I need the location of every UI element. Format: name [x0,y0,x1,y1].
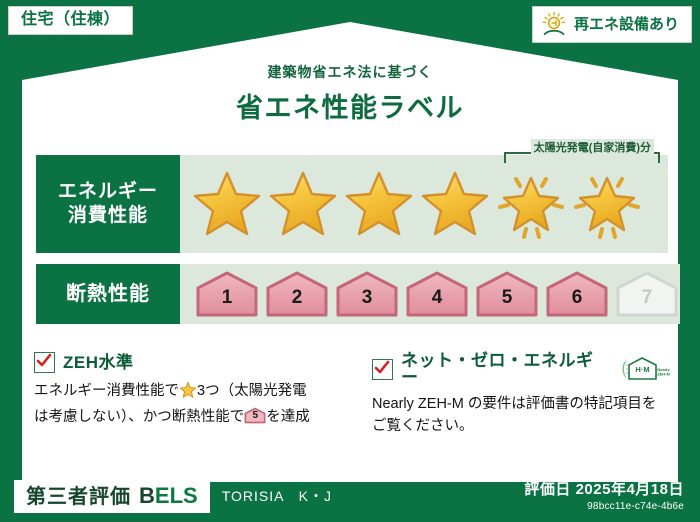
star-icon [190,167,264,241]
insulation-level-icon-number: 5 [244,411,266,421]
zeh-body-part3: は考慮しない）、かつ断熱性能で [34,409,244,425]
badge-renewable-label: 再エネ設備あり [574,17,679,32]
badge-renewable-equipment: 再エネ設備あり [532,6,692,43]
svg-text:H·M: H·M [635,365,649,374]
zeh-body-part4: を達成 [266,409,310,425]
zeh-standard-body: エネルギー消費性能で3つ（太陽光発電は考慮しない）、かつ断熱性能で5を達成 [34,380,352,429]
zeh-standard-title: ZEH水準 [63,354,134,371]
zeh-standard-block: ZEH水準 エネルギー消費性能で3つ（太陽光発電は考慮しない）、かつ断熱性能で5… [34,352,352,438]
svg-text:ZEH-M: ZEH-M [657,372,670,377]
insulation-level-group: 1 2 3 4 [180,270,680,318]
insulation-label: 断熱性能 [36,264,180,324]
star-icon [266,167,340,241]
insulation-level-house: 5 [474,270,540,318]
insulation-level-number: 6 [544,288,610,307]
certification-checks: ZEH水準 エネルギー消費性能で3つ（太陽光発電は考慮しない）、かつ断熱性能で5… [34,352,670,438]
bels-logo-els: ELS [155,483,198,508]
energy-performance-label: 住宅（住棟） 再エネ設備あり 建築物省エネ法に基づく [0,0,700,522]
label-title: 省エネ性能ラベル [0,86,700,125]
owner-name: TORISIA K・J [222,486,332,506]
insulation-level-number: 5 [474,288,540,307]
insulation-level-house: 1 [194,270,260,318]
pv-caption: 太陽光発電(自家消費)分 [531,139,654,155]
bels-certification-badge: 第三者評価 BELS [14,480,210,513]
insulation-level-house-inactive: 7 [614,270,680,318]
third-party-eval-label: 第三者評価 [26,487,131,507]
insulation-level-icon-inline: 5 [244,407,266,424]
energy-consumption-row: エネルギー 消費性能 [36,155,668,253]
net-zero-energy-body: Nearly ZEH-M の要件は評価書の特記項目をご覧ください。 [372,393,670,438]
label-footer: 第三者評価 BELS TORISIA K・J 評価日 2025年4月18日 98… [0,470,700,522]
insulation-level-number: 4 [404,288,470,307]
star-icon-inline [179,381,197,406]
insulation-level-number: 1 [194,288,260,307]
insulation-level-house: 2 [264,270,330,318]
insulation-level-number: 7 [614,288,680,307]
label-subtitle: 建築物省エネ法に基づく [0,62,700,82]
star-rating-group [180,167,644,241]
star-icon-pv [570,167,644,241]
badge-dwelling-type: 住宅（住棟） [8,6,133,35]
bels-logo: BELS [139,485,198,507]
evaluation-id: 98bcc11e-c74e-4b6e [524,501,684,512]
label-title-block: 建築物省エネ法に基づく 省エネ性能ラベル [0,62,700,125]
evaluation-info: 評価日 2025年4月18日 98bcc11e-c74e-4b6e [524,481,684,512]
net-zero-energy-title: ネット・ゼロ・エネルギー [401,352,608,386]
energy-consumption-rating: 太陽光発電(自家消費)分 [180,155,668,253]
star-icon [342,167,416,241]
insulation-level-number: 2 [264,288,330,307]
insulation-performance-row: 断熱性能 1 2 [36,264,668,324]
net-zero-energy-block: ネット・ゼロ・エネルギー H·M Nearly ZEH-M Nearly ZEH… [372,352,670,438]
energy-consumption-label: エネルギー 消費性能 [36,155,180,253]
energy-label-line2: 消費性能 [68,204,148,228]
zeh-body-part2: 3つ（太陽光発電 [197,383,307,399]
insulation-level-number: 3 [334,288,400,307]
checkbox-net-zero-energy [372,359,393,380]
insulation-label-text: 断熱性能 [66,282,150,307]
badge-dwelling-label: 住宅（住棟） [21,11,120,28]
solar-sun-icon [541,11,567,37]
zeh-standard-heading: ZEH水準 [34,352,352,373]
zeh-body-part1: エネルギー消費性能で [34,383,179,399]
insulation-rating: 1 2 3 4 [180,264,680,324]
insulation-level-house: 3 [334,270,400,318]
nearly-zeh-m-logo: H·M Nearly ZEH-M [616,355,670,383]
net-zero-energy-heading: ネット・ゼロ・エネルギー H·M Nearly ZEH-M [372,352,670,386]
insulation-level-house: 6 [544,270,610,318]
bels-logo-b: B [139,483,155,508]
star-icon [418,167,492,241]
energy-label-line1: エネルギー [58,180,158,204]
insulation-level-house: 4 [404,270,470,318]
evaluation-date: 評価日 2025年4月18日 [524,481,684,499]
star-icon-pv [494,167,568,241]
checkbox-zeh-standard [34,352,55,373]
